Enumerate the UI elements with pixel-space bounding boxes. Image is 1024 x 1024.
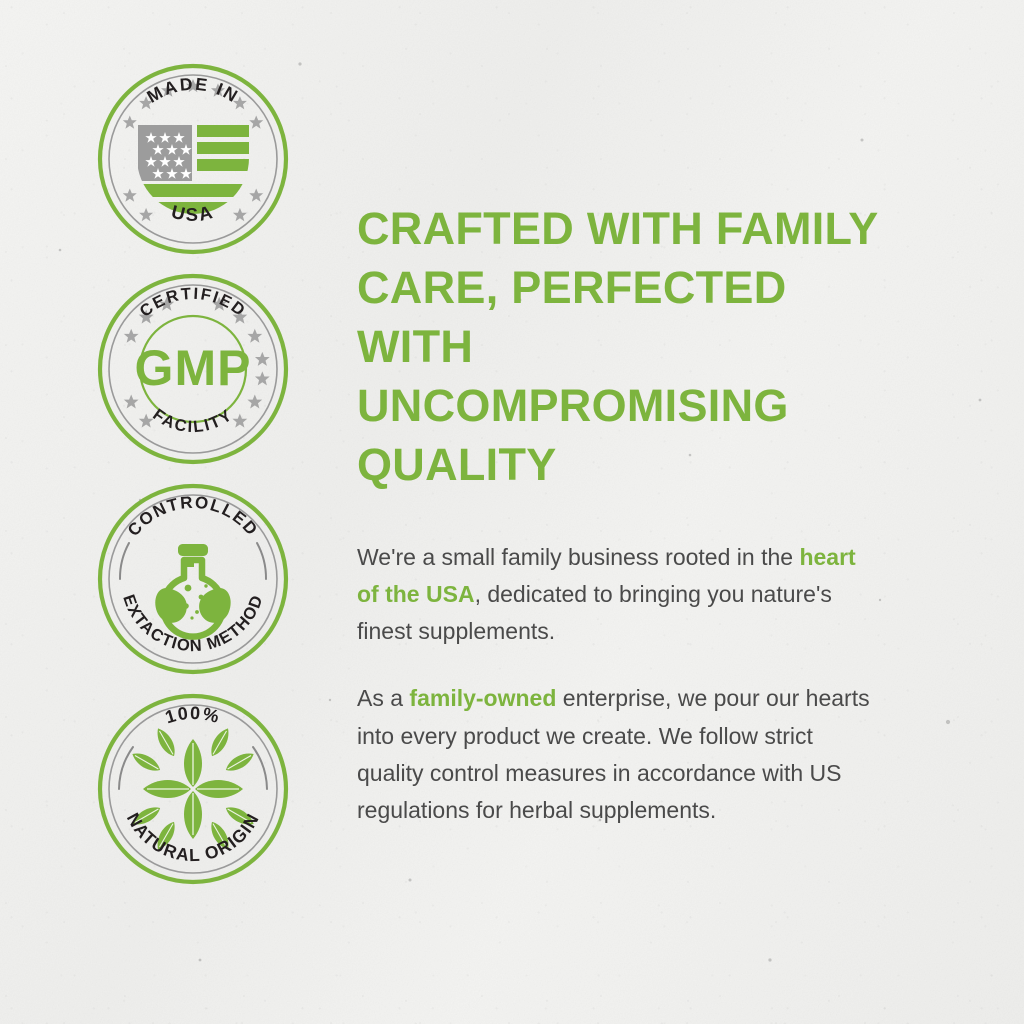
- badge-gmp-certified: GMP CERTIFIED FACILITY: [96, 272, 290, 466]
- flask-with-leaves-icon: [155, 544, 230, 637]
- trust-badge-column: MADE IN USA: [96, 62, 296, 886]
- content-column: CRAFTED WITH FAMILY CARE, PERFECTED WITH…: [357, 200, 923, 829]
- body-text: We're a small family business rooted in …: [357, 544, 799, 570]
- infographic-canvas: MADE IN USA: [0, 0, 1024, 1024]
- badge-top-text: MADE IN: [143, 74, 242, 107]
- badge-bottom-text: FACILITY: [149, 406, 236, 437]
- highlighted-text: family-owned: [409, 685, 556, 711]
- usa-flag-shield-icon: [138, 125, 249, 215]
- badge-controlled-extraction: CONTROLLED EXTACTION METHOD: [96, 482, 290, 676]
- body-paragraph-2: As a family-owned enterprise, we pour ou…: [357, 680, 877, 829]
- page-headline: CRAFTED WITH FAMILY CARE, PERFECTED WITH…: [357, 200, 913, 495]
- body-text: As a: [357, 685, 409, 711]
- badge-top-text: 100%: [163, 703, 223, 728]
- badge-natural-origin: 100% NATURAL ORIGIN: [96, 692, 290, 886]
- gmp-text-icon: GMP: [135, 340, 252, 396]
- badge-made-in-usa: MADE IN USA: [96, 62, 290, 256]
- badge-bottom-text: USA: [169, 201, 216, 225]
- body-paragraph-1: We're a small family business rooted in …: [357, 539, 877, 651]
